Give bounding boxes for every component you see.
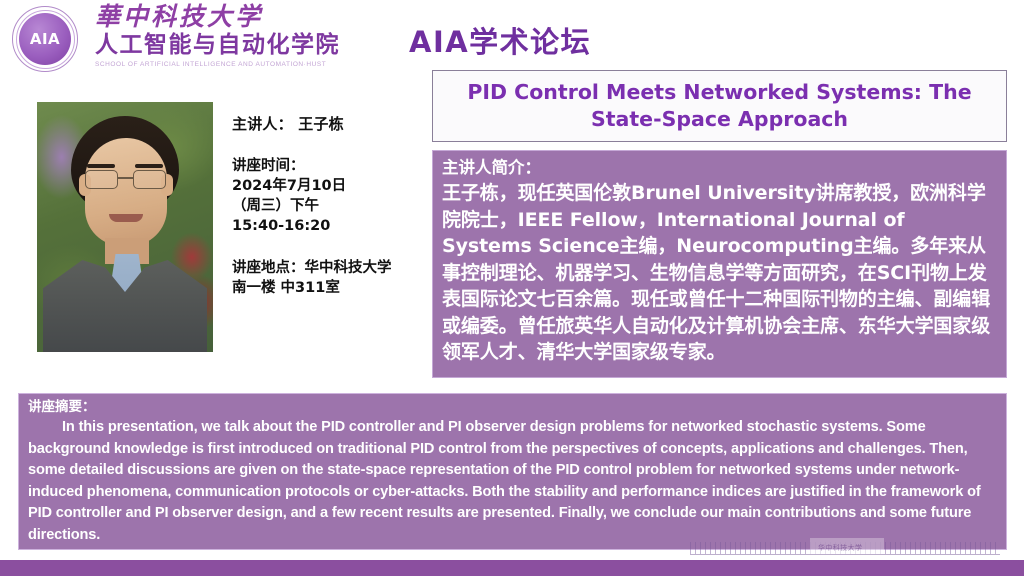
seminar-location-line1: 讲座地点：华中科技大学 — [232, 258, 432, 278]
portrait-mouth — [109, 214, 143, 222]
seminar-time-range: 15:40-16:20 — [232, 216, 428, 236]
speaker-name-line: 主讲人： 王子栋 — [232, 114, 428, 134]
school-name-cn: 人工智能与自动化学院 — [95, 32, 425, 58]
seminar-location-line2: 南一楼 中311室 — [232, 278, 428, 298]
watermark-baseline — [690, 554, 1000, 555]
abstract-label: 讲座摘要： — [28, 398, 998, 417]
aia-school-logo-icon: AIA — [12, 6, 78, 72]
speaker-portrait-photo — [37, 102, 213, 352]
seminar-weekday: （周三）下午 — [232, 196, 428, 216]
abstract-panel: 讲座摘要： In this presentation, we talk abou… — [18, 393, 1007, 550]
page-header: AIA 華中科技大学 人工智能与自动化学院 SCHOOL OF ARTIFICI… — [0, 0, 1024, 78]
school-name-en: SCHOOL OF ARTIFICIAL INTELLIGENCE AND AU… — [95, 61, 425, 68]
footer-bar — [0, 560, 1024, 576]
university-name-cn: 華中科技大学 — [95, 4, 425, 30]
logo-letters: AIA — [13, 7, 77, 71]
forum-title: AIA学术论坛 — [409, 19, 591, 61]
portrait-glasses — [83, 170, 169, 190]
portrait-face — [85, 138, 167, 246]
school-name-block: 華中科技大学 人工智能与自动化学院 SCHOOL OF ARTIFICIAL I… — [95, 4, 425, 68]
glasses-lens-right — [133, 170, 166, 189]
seminar-info-block: 主讲人： 王子栋 讲座时间： 2024年7月10日 （周三）下午 15:40-1… — [232, 114, 428, 298]
abstract-text: In this presentation, we talk about the … — [28, 417, 998, 546]
glasses-bridge — [118, 177, 133, 179]
seminar-date: 2024年7月10日 — [232, 176, 428, 196]
portrait-brow-right — [135, 164, 163, 168]
seminar-time-label: 讲座时间： — [232, 156, 428, 176]
speaker-bio-text: 王子栋，现任英国伦敦Brunel University讲席教授，欧洲科学院院士，… — [442, 180, 998, 366]
talk-title-box: PID Control Meets Networked Systems: The… — [432, 70, 1007, 142]
speaker-bio-panel: 主讲人简介： 王子栋，现任英国伦敦Brunel University讲席教授，欧… — [432, 150, 1007, 378]
glasses-lens-left — [85, 170, 118, 189]
talk-title-text: PID Control Meets Networked Systems: The… — [447, 79, 992, 133]
portrait-brow-left — [87, 164, 115, 168]
speaker-bio-label: 主讲人简介： — [442, 156, 998, 180]
